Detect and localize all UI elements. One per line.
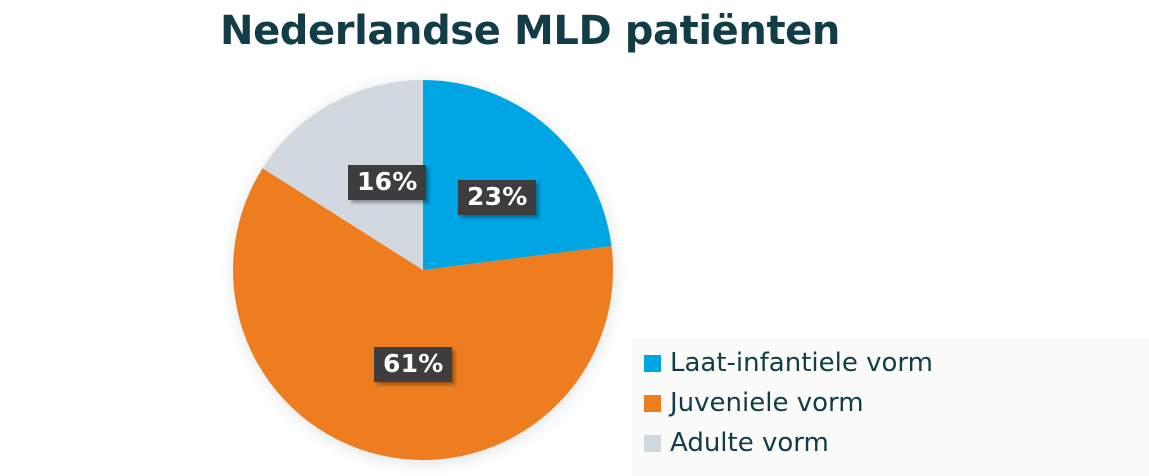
legend-item-adulte-vorm[interactable]: Adulte vorm xyxy=(644,423,1149,463)
legend-swatch-icon xyxy=(644,435,661,452)
chart-legend: Laat-infantiele vorm Juveniele vorm Adul… xyxy=(632,337,1149,476)
data-label-adulte: 16% xyxy=(348,165,426,200)
legend-swatch-icon xyxy=(644,355,661,372)
legend-item-label: Adulte vorm xyxy=(670,427,829,459)
data-label-juveniele: 61% xyxy=(374,347,452,382)
legend-item-laat-infantiele-vorm[interactable]: Laat-infantiele vorm xyxy=(644,343,1149,383)
page-title: Nederlandse MLD patiënten xyxy=(0,6,1060,56)
pie-svg xyxy=(233,80,613,460)
legend-item-juveniele-vorm[interactable]: Juveniele vorm xyxy=(644,383,1149,423)
legend-swatch-icon xyxy=(644,395,661,412)
legend-item-label: Juveniele vorm xyxy=(670,387,864,419)
data-label-laat-infantiele: 23% xyxy=(458,180,536,215)
legend-item-label: Laat-infantiele vorm xyxy=(670,347,933,379)
pie-chart xyxy=(233,80,613,460)
pie-slice[interactable] xyxy=(423,80,612,270)
